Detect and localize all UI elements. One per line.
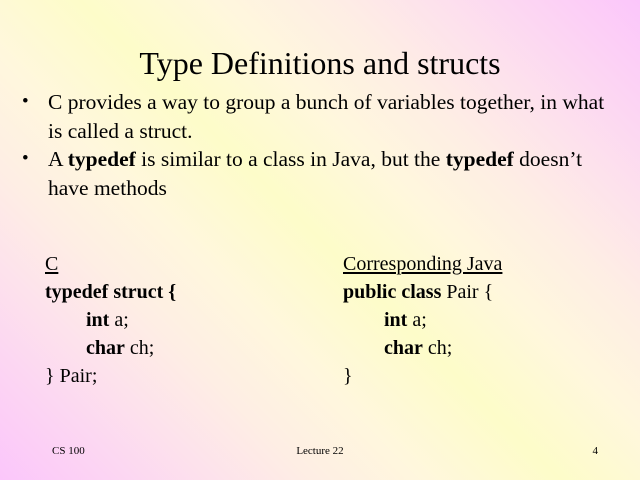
text-run-bold: typedef — [446, 147, 514, 171]
code-line: public class Pair { — [343, 278, 633, 306]
code-line: } — [343, 362, 633, 390]
text-run: C provides a way to group a bunch of var… — [48, 90, 604, 143]
text-run-bold: typedef — [68, 147, 136, 171]
code-line: typedef struct { — [45, 278, 335, 306]
bullet-point-icon: • — [22, 145, 48, 174]
bullet-item: •C provides a way to group a bunch of va… — [22, 88, 622, 145]
footer-lecture: Lecture 22 — [0, 440, 640, 462]
code-column-heading: C — [45, 250, 335, 278]
text-run: ch; — [125, 337, 154, 359]
text-run-bold: char — [86, 337, 125, 359]
text-run-bold: char — [384, 337, 423, 359]
code-comparison: Ctypedef struct {int a;char ch;} Pair; C… — [0, 250, 640, 400]
text-run: a; — [407, 309, 426, 331]
text-run-bold: public class — [343, 281, 441, 303]
text-run: a; — [109, 309, 128, 331]
bullet-item: •A typedef is similar to a class in Java… — [22, 145, 622, 202]
code-line: int a; — [45, 306, 335, 334]
text-run-bold: int — [384, 309, 407, 331]
bullet-text: C provides a way to group a bunch of var… — [48, 88, 622, 145]
text-run: A — [48, 147, 68, 171]
text-run-bold: typedef struct { — [45, 281, 176, 303]
text-run-bold: int — [86, 309, 109, 331]
code-column-heading: Corresponding Java — [343, 250, 633, 278]
text-run: ch; — [423, 337, 452, 359]
code-line: char ch; — [45, 334, 335, 362]
code-line: } Pair; — [45, 362, 335, 390]
bullet-point-icon: • — [22, 88, 48, 117]
code-line: int a; — [343, 306, 633, 334]
code-line: char ch; — [343, 334, 633, 362]
slide-footer: CS 100 Lecture 22 4 — [0, 440, 640, 462]
text-run: } — [343, 365, 353, 387]
footer-page-number: 4 — [593, 440, 599, 462]
bullet-list: •C provides a way to group a bunch of va… — [22, 88, 622, 202]
text-run: } Pair; — [45, 365, 97, 387]
text-run: is similar to a class in Java, but the — [136, 147, 446, 171]
bullet-text: A typedef is similar to a class in Java,… — [48, 145, 622, 202]
slide-title: Type Definitions and structs — [0, 44, 640, 82]
slide: Type Definitions and structs •C provides… — [0, 0, 640, 480]
code-column-c: Ctypedef struct {int a;char ch;} Pair; — [45, 250, 335, 390]
text-run: Pair { — [441, 281, 493, 303]
code-column-java: Corresponding Javapublic class Pair {int… — [343, 250, 633, 390]
